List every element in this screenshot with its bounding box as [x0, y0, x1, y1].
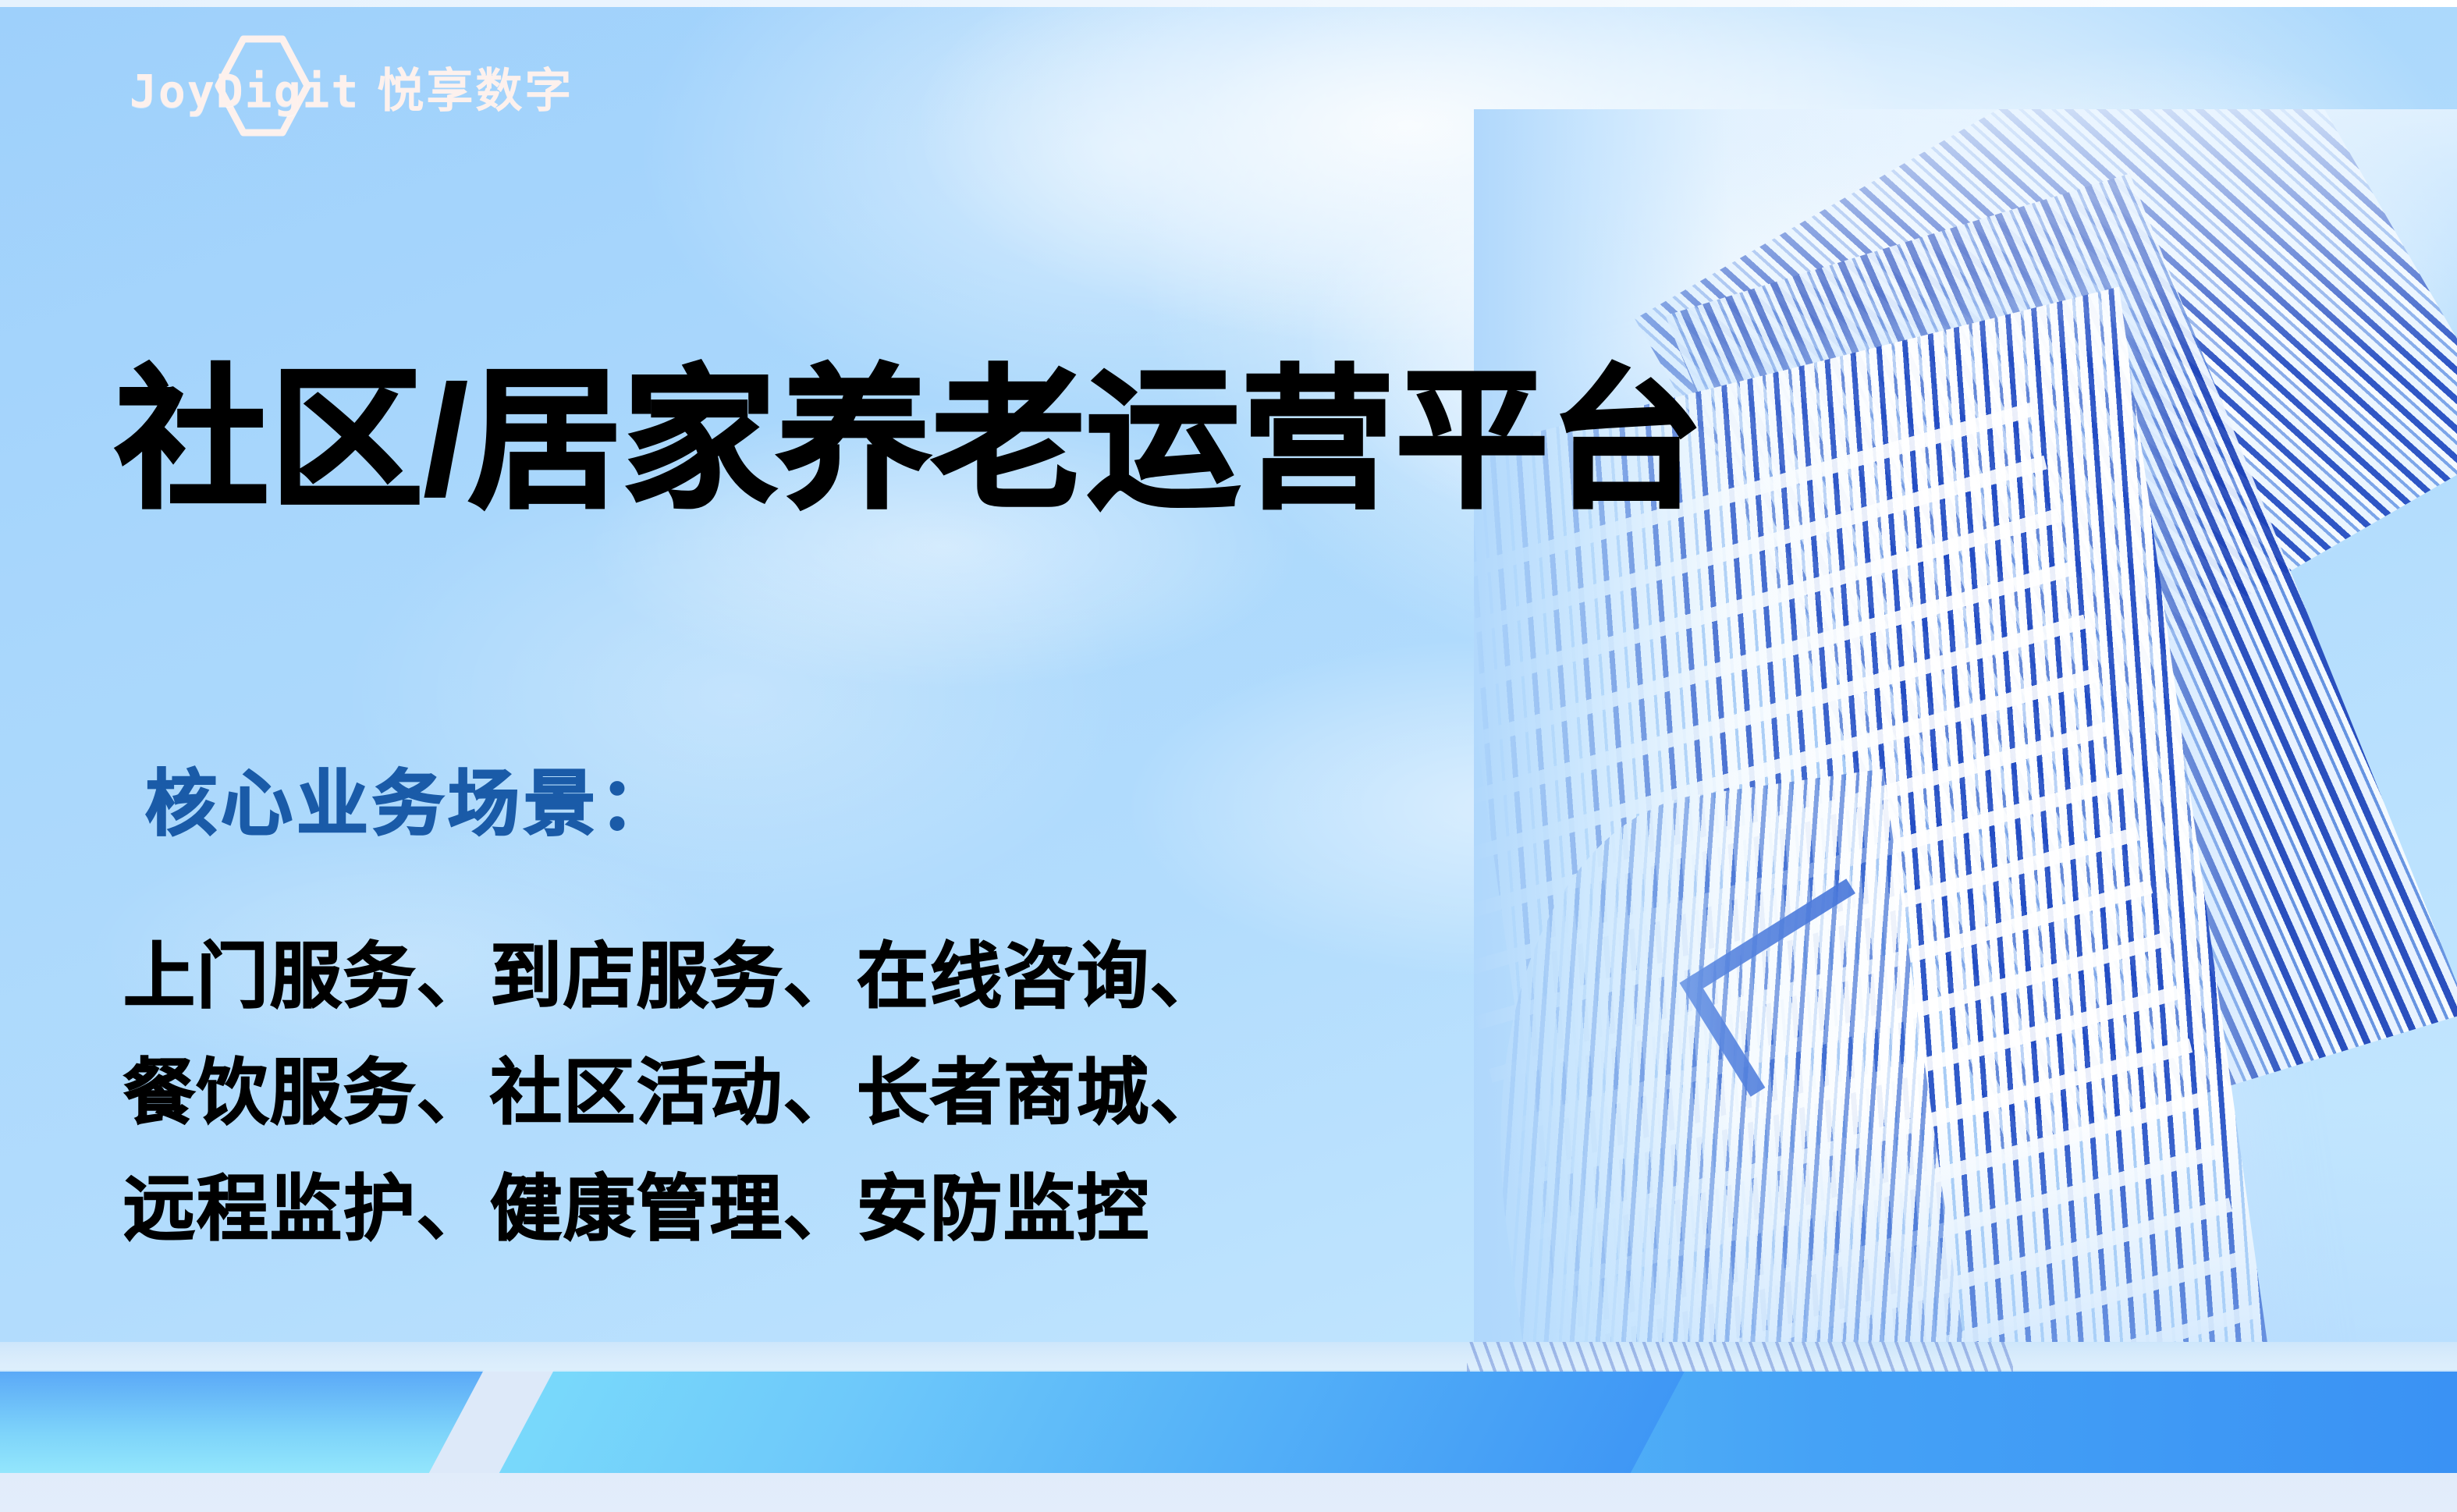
bottom-decorative-band [0, 1342, 2457, 1512]
page-title: 社区/居家养老运营平台 [115, 364, 1704, 517]
band-building-texture [1467, 1342, 2013, 1372]
band-parallelogram-left [0, 1370, 484, 1473]
brand-logo[interactable]: JoyDigit 悦享数字 [130, 36, 566, 137]
band-top-edge-fade [0, 1342, 2457, 1372]
scenario-list: 上门服务、到店服务、在线咨询、 餐饮服务、社区活动、长者商城、 远程监护、健康管… [123, 919, 1606, 1268]
band-parallelogram-right [492, 1370, 1685, 1473]
top-edge-strip [0, 0, 2457, 7]
section-label-core-scenarios: 核心业务场景： [145, 768, 675, 840]
brand-logo-text: JoyDigit 悦享数字 [130, 53, 573, 121]
scenario-line: 远程监护、健康管理、安防监控 [123, 1152, 1606, 1268]
brand-name-en: JoyDigit [130, 65, 360, 118]
scenario-line: 餐饮服务、社区活动、长者商城、 [123, 1035, 1606, 1152]
brand-name-cn: 悦享数字 [377, 53, 573, 121]
sky-background [0, 0, 2457, 1512]
scenario-line: 上门服务、到店服务、在线咨询、 [123, 919, 1606, 1035]
slide-canvas: JoyDigit 悦享数字 社区/居家养老运营平台 核心业务场景： 上门服务、到… [0, 0, 2457, 1512]
